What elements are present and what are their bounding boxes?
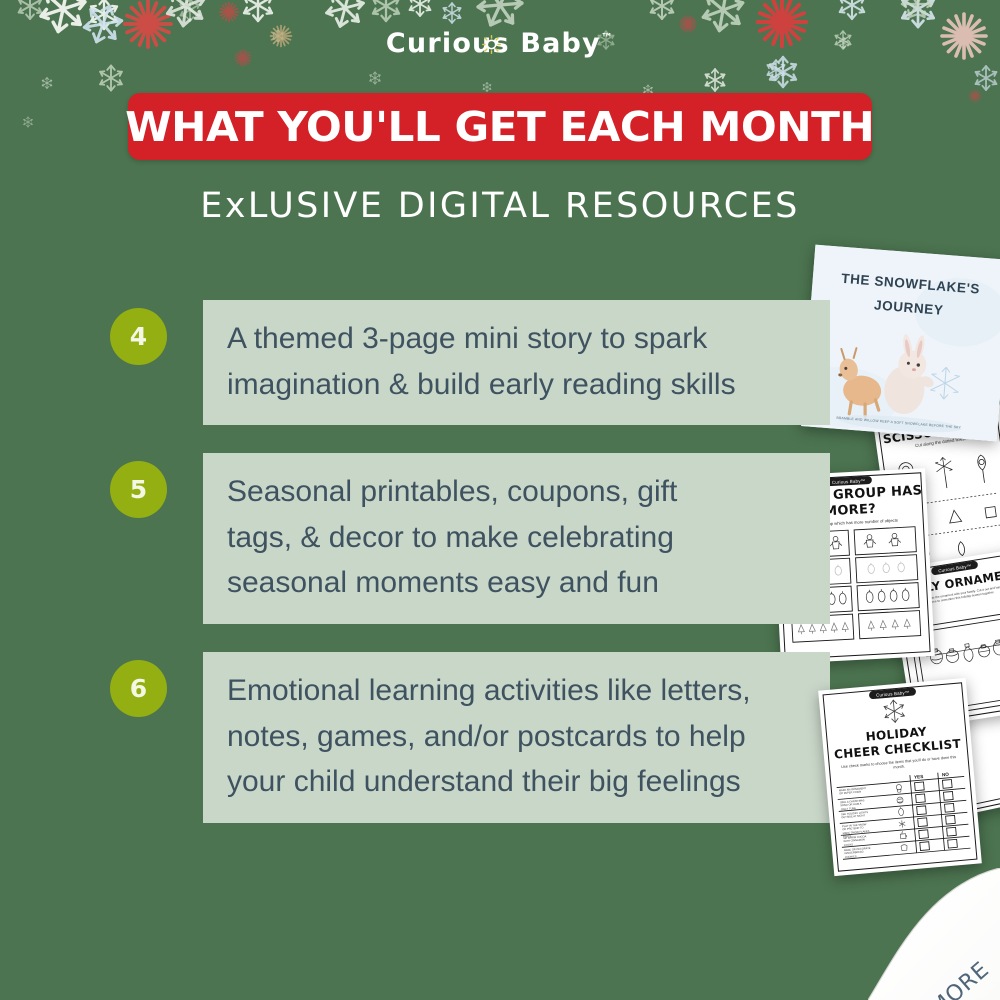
trademark-symbol: ™ — [601, 31, 614, 45]
checklist-grid-art — [818, 678, 982, 876]
feature-line: your child understand their big feelings — [227, 759, 808, 805]
printable-holiday-cheer-checklist: Curious Baby™ HOLIDAY CHEER CHECKLIST Us… — [818, 678, 982, 876]
brand-logo: Curious Baby™ — [0, 28, 1000, 59]
feature-number-badge: 6 — [110, 660, 167, 717]
printable-storybook-cover: THE SNOWFLAKE'S JOURNEY BRAMBLE AND WILL… — [801, 245, 1000, 442]
brand-logo-text: Curious Baby™ — [386, 28, 614, 59]
feature-line: seasonal moments easy and fun — [227, 560, 808, 606]
feature-line: A themed 3-page mini story to spark — [227, 316, 808, 362]
feature-row: 5 Seasonal printables, coupons, gift tag… — [110, 453, 830, 624]
promo-canvas: Curious Baby™ WHAT YOU'LL GET EACH MONTH… — [0, 0, 1000, 1000]
feature-text-panel: Emotional learning activities like lette… — [203, 652, 830, 823]
feature-list: 4 A themed 3-page mini story to spark im… — [110, 300, 830, 851]
feature-number-badge: 4 — [110, 308, 167, 365]
feature-line: Seasonal printables, coupons, gift — [227, 469, 808, 515]
headline-text: WHAT YOU'LL GET EACH MONTH — [125, 103, 874, 151]
feature-row: 4 A themed 3-page mini story to spark im… — [110, 300, 830, 425]
brand-name: Curious Baby — [386, 28, 601, 59]
feature-row: 6 Emotional learning activities like let… — [110, 652, 830, 823]
feature-number-badge: 5 — [110, 461, 167, 518]
feature-line: Emotional learning activities like lette… — [227, 668, 808, 714]
feature-text-panel: Seasonal printables, coupons, gift tags,… — [203, 453, 830, 624]
feature-line: tags, & decor to make celebrating — [227, 515, 808, 561]
feature-line: imagination & build early reading skills — [227, 362, 808, 408]
feature-line: notes, games, and/or postcards to help — [227, 714, 808, 760]
headline-banner: WHAT YOU'LL GET EACH MONTH — [128, 93, 872, 160]
subtitle-text: ExLUSIVE DIGITAL RESOURCES — [0, 186, 1000, 226]
feature-text-panel: A themed 3-page mini story to spark imag… — [203, 300, 830, 425]
storybook-title-line2: JOURNEY — [874, 297, 944, 317]
